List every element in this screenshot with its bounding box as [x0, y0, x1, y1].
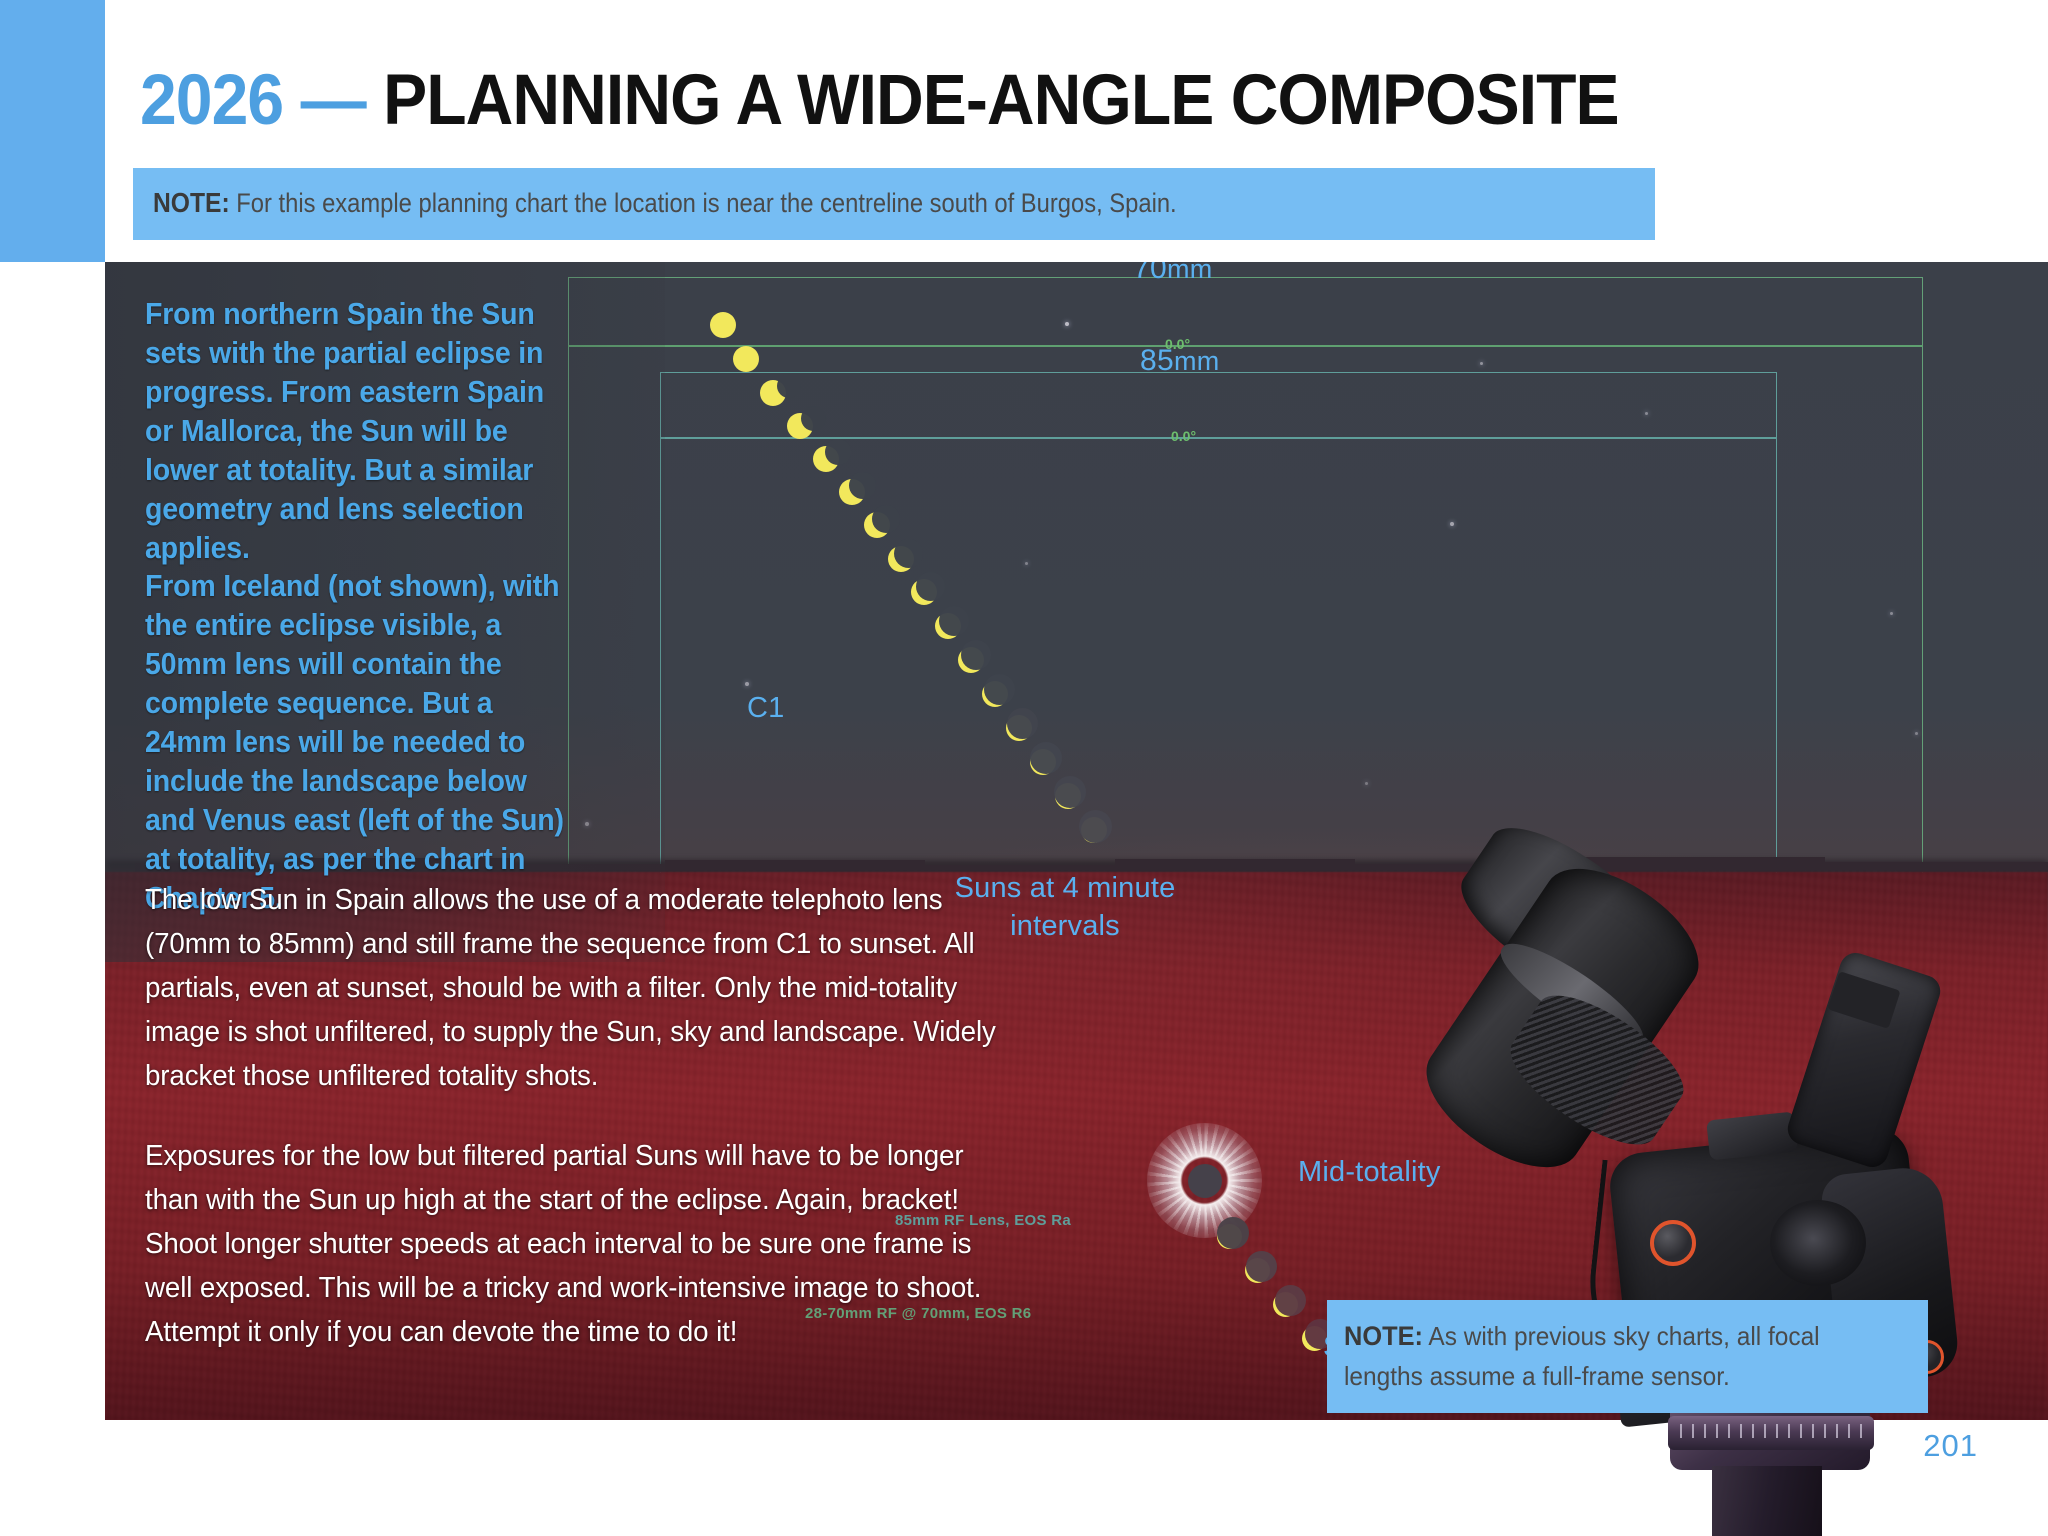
- body-paragraph-2: Exposures for the low but filtered parti…: [145, 1134, 1005, 1354]
- page-title-text: PLANNING A WIDE-ANGLE COMPOSITE: [383, 61, 1619, 140]
- sun-disk: [710, 312, 736, 338]
- note-banner-top-label: NOTE:: [153, 187, 230, 218]
- callout-interval-line2: intervals: [1010, 910, 1120, 942]
- note-banner-top-body: For this example planning chart the loca…: [236, 188, 1176, 218]
- strap-anchor-red-1: [1650, 1220, 1696, 1266]
- note-banner-bottom-text: NOTE: As with previous sky charts, all f…: [1344, 1316, 1885, 1396]
- note-banner-top: NOTE: For this example planning chart th…: [133, 168, 1655, 240]
- frame-label-70mm: 70mm: [1133, 262, 1213, 286]
- note-banner-bottom-label: NOTE:: [1344, 1321, 1423, 1351]
- page-root: 2026 — PLANNING A WIDE-ANGLE COMPOSITE N…: [0, 0, 2048, 1536]
- frame-label-85mm-unit: mm: [1174, 346, 1220, 376]
- tripod-column: [1712, 1466, 1822, 1536]
- page-title: 2026 — PLANNING A WIDE-ANGLE COMPOSITE: [140, 56, 1721, 146]
- frame-label-70mm-num: 70: [1133, 262, 1167, 285]
- note-banner-top-text: NOTE: For this example planning chart th…: [153, 184, 1455, 222]
- frame-axis-70mm: [568, 345, 1923, 347]
- page-title-year: 2026: [140, 61, 283, 140]
- frame-label-70mm-unit: mm: [1167, 262, 1213, 284]
- sun-disk-c1: [733, 346, 759, 372]
- frame-axis-85mm: [660, 437, 1777, 439]
- callout-mid-totality: Mid-totality: [1298, 1156, 1441, 1189]
- page-title-dash: —: [301, 61, 366, 140]
- header-accent-bar: [0, 0, 105, 262]
- sidebar-paragraph-1: From northern Spain the Sun sets with th…: [145, 294, 568, 567]
- body-paragraph-1: The low Sun in Spain allows the use of a…: [145, 878, 1005, 1098]
- sidebar-paragraph-2: From Iceland (not shown), with the entir…: [145, 566, 568, 917]
- frame-label-85mm-num: 85: [1140, 344, 1174, 377]
- callout-c1: C1: [747, 692, 784, 725]
- note-banner-bottom: NOTE: As with previous sky charts, all f…: [1327, 1300, 1928, 1413]
- viewfinder-eyecup: [1770, 1200, 1866, 1286]
- moon-disk: [1188, 1164, 1222, 1198]
- frame-label-85mm: 85mm: [1140, 344, 1220, 378]
- camera-rig-photo: [1440, 840, 2048, 1536]
- frame-deg-85mm: 0.0°: [1171, 428, 1196, 444]
- tripod-head-scale: [1680, 1424, 1864, 1438]
